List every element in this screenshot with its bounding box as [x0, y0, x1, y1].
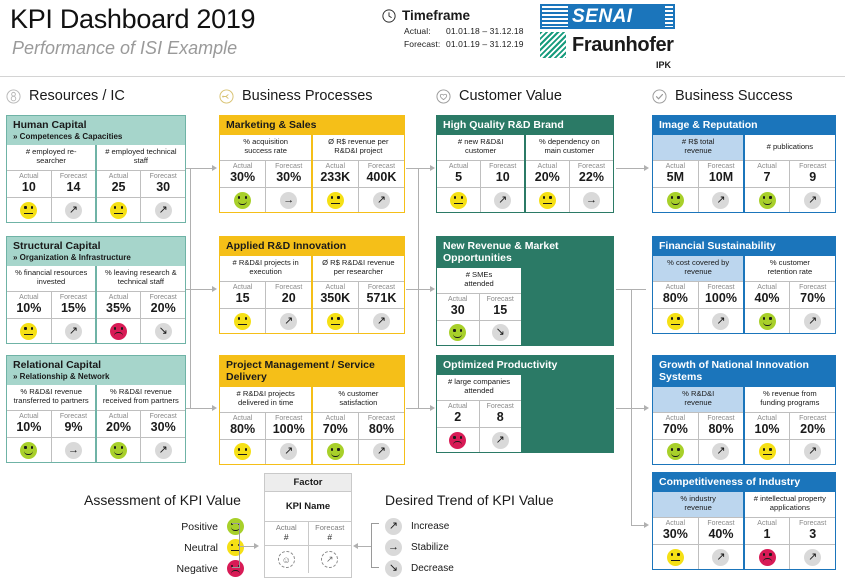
kpi-forecast-cell: Forecast 14: [52, 171, 96, 197]
kpi-forecast-cell: Forecast 30%: [266, 161, 311, 187]
kpi-grid: # large companiesattended Actual 2 Forec…: [437, 375, 613, 452]
kpi-mood-cell: [7, 198, 51, 222]
connector-success-trunk: [631, 289, 632, 525]
trend-increase-icon: ↗: [385, 518, 402, 535]
kpi-values-row: Actual 80% Forecast 100%: [220, 413, 311, 439]
kpi-values-row: Actual 5M Forecast 10M: [653, 161, 743, 187]
kpi-status-row: ↗: [745, 187, 835, 212]
kpi-values-row: Actual 20% Forecast 30%: [97, 411, 185, 437]
column-heading-label: Resources / IC: [29, 88, 125, 104]
kpi-name: % industryrevenue: [653, 492, 743, 518]
trend-increase-icon: ↗: [280, 313, 297, 330]
kpi-forecast-cell: Forecast 10M: [699, 161, 744, 187]
kpi-forecast-value: 9: [790, 170, 835, 187]
smiley-neutral-icon: [20, 202, 37, 219]
legend-trend-item: ↘ Decrease: [385, 560, 454, 577]
card-title: Competitiveness of Industry: [653, 473, 835, 492]
kpi-actual-caption: Actual: [653, 161, 698, 170]
kpi-forecast-value: 30%: [141, 420, 185, 437]
kpi-actual-caption: Actual: [220, 161, 265, 170]
kpi-values-row: Actual 30% Forecast 30%: [220, 161, 311, 187]
kpi-actual-caption: Actual: [745, 413, 790, 422]
kpi-trend-cell: ↗: [790, 440, 835, 464]
kpi-mood-cell: [437, 428, 479, 452]
kpi-actual-value: 30: [437, 303, 479, 320]
card-title: High Quality R&D Brand: [437, 116, 613, 135]
kpi-actual-cell: Actual 10%: [7, 411, 51, 437]
kpi-mood-cell: [745, 440, 790, 464]
kpi-trend-cell: →: [570, 188, 613, 212]
legend-factor-icons: ☺ ↗: [265, 546, 351, 573]
connector-arrowhead-processes-1: [212, 286, 217, 292]
kpi-name: % R&D&I revenuereceived from partners: [97, 385, 185, 411]
kpi-actual-cell: Actual 25: [97, 171, 141, 197]
kpi-values-row: Actual 10% Forecast 20%: [745, 413, 835, 439]
kpi-card-optimized-productivity[interactable]: Optimized Productivity # large companies…: [436, 355, 614, 453]
kpi-actual-cell: Actual 10: [7, 171, 51, 197]
kpi-grid: # SMEsattended Actual 30 Forecast 15 ↘: [437, 268, 613, 345]
legend-trend-label: Increase: [411, 521, 449, 532]
column-heading-customer: Customer Value: [436, 88, 562, 104]
kpi-mood-cell: [97, 319, 141, 343]
legend-trend-title: Desired Trend of KPI Value: [385, 492, 554, 508]
kpi-forecast-caption: Forecast: [266, 161, 311, 170]
kpi-actual-value: 30%: [220, 170, 265, 187]
kpi-actual-caption: Actual: [7, 292, 51, 301]
column-heading-success: Business Success: [652, 88, 793, 104]
kpi-forecast-cell: Forecast 9%: [52, 411, 96, 437]
kpi-status-row: ↗: [653, 187, 743, 212]
kpi-forecast-caption: Forecast: [52, 292, 96, 301]
kpi-forecast-cell: Forecast 15: [480, 294, 522, 320]
kpi-forecast-value: 400K: [359, 170, 404, 187]
kpi-values-row: Actual 30 Forecast 15: [437, 294, 521, 320]
kpi-mood-cell: [745, 545, 790, 569]
trend-increase-icon: ↗: [373, 192, 390, 209]
heart-circle-icon: [436, 89, 451, 104]
legend-assessment-label: Neutral: [160, 542, 218, 554]
kpi-mood-cell: [313, 188, 358, 212]
column-heading-label: Business Processes: [242, 88, 373, 104]
kpi-card-growth-national-innovation[interactable]: Growth of National Innovation Systems % …: [652, 355, 836, 465]
trend-stabilize-icon: →: [65, 442, 82, 459]
fraunhofer-mark-icon: [540, 32, 566, 58]
kpi-status-row: →: [220, 187, 311, 212]
kpi-forecast-value: 30: [141, 180, 185, 197]
kpi-actual-value: 10: [7, 180, 51, 197]
kpi-mood-cell: [220, 309, 265, 333]
senai-wordmark: SENAI: [572, 6, 633, 28]
kpi-actual-value: 7: [745, 170, 790, 187]
kpi-forecast-cell: Forecast 40%: [699, 518, 744, 544]
kpi-column: # employed technicalstaff Actual 25 Fore…: [97, 145, 185, 222]
kpi-card-competitiveness-industry[interactable]: Competitiveness of Industry % industryre…: [652, 472, 836, 570]
connector-arrowhead-success-0: [644, 165, 649, 171]
legend-factor-header: Factor: [265, 474, 351, 492]
kpi-forecast-caption: Forecast: [790, 161, 835, 170]
kpi-mood-cell: [220, 440, 265, 464]
kpi-column: # new R&D&Icustomer Actual 5 Forecast 10…: [437, 135, 524, 212]
kpi-actual-cell: Actual 20%: [526, 161, 569, 187]
kpi-actual-cell: Actual 15: [220, 282, 265, 308]
kpi-actual-value: 5M: [653, 170, 698, 187]
kpi-card-new-revenue-market-opportunities[interactable]: New Revenue & Market Opportunities # SME…: [436, 236, 614, 346]
kpi-mood-cell: [745, 309, 790, 333]
kpi-trend-cell: ↗: [52, 319, 96, 343]
kpi-actual-caption: Actual: [526, 161, 569, 170]
kpi-actual-caption: Actual: [220, 413, 265, 422]
kpi-trend-cell: ↗: [790, 309, 835, 333]
kpi-name: # intellectual propertyapplications: [745, 492, 835, 518]
kpi-group: % industryrevenue Actual 30% Forecast 40…: [653, 492, 835, 569]
kpi-status-row: ↗: [745, 439, 835, 464]
kpi-grid: % financial resourcesinvested Actual 10%…: [7, 266, 185, 343]
card-filler: [521, 268, 613, 345]
kpi-forecast-cell: Forecast 22%: [570, 161, 613, 187]
kpi-column: # R$ totalrevenue Actual 5M Forecast 10M…: [653, 135, 743, 212]
kpi-values-row: Actual 10% Forecast 9%: [7, 411, 95, 437]
kpi-forecast-value: 100%: [266, 422, 311, 439]
smiley-neutral-icon: [667, 549, 684, 566]
kpi-values-row: Actual 80% Forecast 100%: [653, 282, 743, 308]
kpi-trend-cell: ↗: [266, 440, 311, 464]
smiley-positive-icon: [667, 192, 684, 209]
smiley-positive-icon: [667, 443, 684, 460]
kpi-trend-cell: ↗: [699, 188, 744, 212]
kpi-actual-caption: Actual: [7, 171, 51, 180]
smiley-positive-icon: [110, 442, 127, 459]
kpi-actual-value: 70%: [653, 422, 698, 439]
kpi-grid: % R&D&Irevenue Actual 70% Forecast 80% ↗: [653, 387, 835, 464]
header-divider: [0, 76, 845, 77]
kpi-mood-cell: [437, 321, 479, 345]
kpi-mood-cell: [437, 188, 480, 212]
kpi-actual-value: 233K: [313, 170, 358, 187]
legend-assessment-title: Assessment of KPI Value: [84, 492, 241, 508]
kpi-column: % R&D&I revenuereceived from partners Ac…: [97, 385, 185, 462]
kpi-column: % customersatisfaction Actual 70% Foreca…: [313, 387, 404, 464]
legend-factor-mood-slot: ☺: [265, 546, 308, 573]
kpi-forecast-cell: Forecast 8: [480, 401, 522, 427]
kpi-actual-value: 35%: [97, 301, 141, 318]
kpi-values-row: Actual 70% Forecast 80%: [653, 413, 743, 439]
trend-stabilize-icon: →: [583, 192, 600, 209]
kpi-forecast-cell: Forecast 9: [790, 161, 835, 187]
kpi-name: % R&D&Irevenue: [653, 387, 743, 413]
kpi-trend-cell: ↗: [699, 440, 744, 464]
trend-increase-icon: ↗: [65, 202, 82, 219]
smiley-positive-icon: [449, 324, 466, 341]
kpi-forecast-cell: Forecast 80%: [359, 413, 404, 439]
kpi-grid: # R&D&I projects inexecution Actual 15 F…: [220, 256, 404, 333]
trend-increase-icon: ↗: [712, 443, 729, 460]
kpi-values-row: Actual 25 Forecast 30: [97, 171, 185, 197]
kpi-status-row: ↗: [220, 439, 311, 464]
kpi-grid: % industryrevenue Actual 30% Forecast 40…: [653, 492, 835, 569]
kpi-name: # employed re-searcher: [7, 145, 95, 171]
connector-arrowhead-processes-2: [212, 405, 217, 411]
kpi-trend-cell: ↗: [790, 188, 835, 212]
kpi-actual-cell: Actual 5: [437, 161, 480, 187]
kpi-card-relational-capital[interactable]: Relational Capital» Relationship & Netwo…: [6, 355, 186, 463]
kpi-status-row: ↗: [653, 439, 743, 464]
kpi-forecast-value: 15%: [52, 301, 96, 318]
kpi-status-row: ↗: [220, 308, 311, 333]
kpi-values-row: Actual 30% Forecast 40%: [653, 518, 743, 544]
kpi-forecast-value: 20: [266, 291, 311, 308]
kpi-status-row: →: [7, 437, 95, 462]
connector-arrowhead-customer-2: [430, 405, 435, 411]
trend-increase-icon: ↗: [804, 443, 821, 460]
kpi-status-row: ↘: [97, 318, 185, 343]
legend-assessment-brace: [232, 523, 240, 568]
kpi-values-row: Actual 70% Forecast 80%: [313, 413, 404, 439]
kpi-forecast-value: 10M: [699, 170, 744, 187]
kpi-card-financial-sustainability[interactable]: Financial Sustainability % cost covered …: [652, 236, 836, 334]
fraunhofer-institute-code: IPK: [656, 60, 671, 70]
kpi-card-human-capital[interactable]: Human Capital» Competences & Capacities …: [6, 115, 186, 223]
smiley-neutral-icon: [234, 443, 251, 460]
card-subtitle: » Relationship & Network: [13, 373, 179, 382]
kpi-actual-cell: Actual 70%: [313, 413, 358, 439]
kpi-actual-value: 20%: [97, 420, 141, 437]
kpi-forecast-cell: Forecast 571K: [359, 282, 404, 308]
kpi-trend-cell: ↗: [141, 198, 185, 222]
kpi-column: % customerretention rate Actual 40% Fore…: [745, 256, 835, 333]
kpi-name: # R&D&I projects inexecution: [220, 256, 311, 282]
kpi-mood-cell: [653, 188, 698, 212]
connector-processes-in-1: [190, 289, 214, 290]
kpi-actual-value: 40%: [745, 291, 790, 308]
kpi-forecast-value: 80%: [699, 422, 744, 439]
kpi-actual-cell: Actual 40%: [745, 282, 790, 308]
kpi-trend-cell: →: [52, 438, 96, 462]
kpi-name: % R&D&I revenuetransferred to partners: [7, 385, 95, 411]
kpi-actual-cell: Actual 5M: [653, 161, 698, 187]
legend-assessment-arrowhead: [254, 543, 259, 549]
kpi-name: # large companiesattended: [437, 375, 521, 401]
trend-placeholder-icon: ↗: [321, 551, 338, 568]
card-title: Marketing & Sales: [220, 116, 404, 135]
kpi-name: % financial resourcesinvested: [7, 266, 95, 292]
trend-stabilize-icon: →: [280, 192, 297, 209]
kpi-actual-caption: Actual: [745, 161, 790, 170]
kpi-actual-caption: Actual: [653, 518, 698, 527]
kpi-values-row: Actual 5 Forecast 10: [437, 161, 524, 187]
kpi-forecast-caption: Forecast: [699, 282, 744, 291]
legend-factor-actual-value: #: [265, 533, 308, 543]
kpi-card-project-management[interactable]: Project Management / Service Delivery # …: [219, 355, 405, 465]
kpi-card-applied-rd-innovation[interactable]: Applied R&D Innovation # R&D&I projects …: [219, 236, 405, 334]
timeframe-actual-key: Actual:: [404, 26, 446, 36]
kpi-column: % R&D&Irevenue Actual 70% Forecast 80% ↗: [653, 387, 743, 464]
kpi-trend-cell: ↗: [480, 428, 522, 452]
kpi-mood-cell: [97, 198, 141, 222]
card-title: Optimized Productivity: [437, 356, 613, 375]
kpi-forecast-cell: Forecast 20: [266, 282, 311, 308]
kpi-name: # publications: [745, 135, 835, 161]
kpi-mood-cell: [745, 188, 790, 212]
trend-increase-icon: ↗: [155, 442, 172, 459]
legend-factor-card: Factor KPI Name Actual # Forecast # ☺ ↗: [264, 473, 352, 578]
kpi-values-row: Actual 35% Forecast 20%: [97, 292, 185, 318]
smiley-positive-icon: [759, 192, 776, 209]
timeframe-forecast-key: Forecast:: [404, 39, 446, 49]
trend-increase-icon: ↗: [804, 549, 821, 566]
card-title: Structural Capital» Organization & Infra…: [7, 237, 185, 266]
card-subtitle: » Competences & Capacities: [13, 133, 179, 142]
trend-decrease-icon: ↘: [385, 560, 402, 577]
trend-increase-icon: ↗: [712, 549, 729, 566]
kpi-forecast-cell: Forecast 20%: [790, 413, 835, 439]
legend-trend-item: ↗ Increase: [385, 518, 449, 535]
connector-processes-in-0: [190, 168, 214, 169]
connector-arrowhead-customer-1: [430, 286, 435, 292]
kpi-forecast-caption: Forecast: [141, 292, 185, 301]
kpi-forecast-value: 80%: [359, 422, 404, 439]
kpi-forecast-cell: Forecast 20%: [141, 292, 185, 318]
kpi-name: % dependency onmain customer: [526, 135, 613, 161]
kpi-name: % cost covered byrevenue: [653, 256, 743, 282]
trend-increase-icon: ↗: [804, 313, 821, 330]
legend-trend-arrowhead: [353, 543, 358, 549]
kpi-name: # employed technicalstaff: [97, 145, 185, 171]
connector-processes-trunk: [418, 168, 419, 408]
kpi-forecast-value: 3: [790, 527, 835, 544]
kpi-actual-cell: Actual 70%: [653, 413, 698, 439]
legend-trend-label: Stabilize: [411, 542, 449, 553]
kpi-forecast-cell: Forecast 10: [481, 161, 524, 187]
card-title: Financial Sustainability: [653, 237, 835, 256]
smiley-neutral-icon: [539, 192, 556, 209]
connector-arrowhead-success-3: [644, 522, 649, 528]
kpi-column: # R&D&I projects inexecution Actual 15 F…: [220, 256, 311, 333]
kpi-column: # employed re-searcher Actual 10 Forecas…: [7, 145, 95, 222]
legend-factor-actual: Actual #: [265, 522, 308, 545]
senai-edge-icon: [665, 6, 673, 27]
kpi-forecast-value: 70%: [790, 291, 835, 308]
kpi-mood-cell: [97, 438, 141, 462]
smiley-neutral-icon: [450, 192, 467, 209]
trend-increase-icon: ↗: [492, 432, 509, 449]
smiley-neutral-icon: [20, 323, 37, 340]
kpi-actual-cell: Actual 35%: [97, 292, 141, 318]
kpi-actual-caption: Actual: [220, 282, 265, 291]
kpi-actual-value: 10%: [7, 301, 51, 318]
kpi-mood-cell: [653, 440, 698, 464]
kpi-card-marketing-sales[interactable]: Marketing & Sales % acquisitionsuccess r…: [219, 115, 405, 213]
kpi-forecast-value: 571K: [359, 291, 404, 308]
kpi-forecast-cell: Forecast 80%: [699, 413, 744, 439]
kpi-status-row: ↗: [653, 308, 743, 333]
kpi-values-row: Actual 20% Forecast 22%: [526, 161, 613, 187]
legend-factor-forecast-value: #: [309, 533, 352, 543]
kpi-card-high-quality-rd-brand[interactable]: High Quality R&D Brand # new R&D&Icustom…: [436, 115, 614, 213]
kpi-status-row: ↗: [97, 197, 185, 222]
trend-increase-icon: ↗: [373, 313, 390, 330]
kpi-actual-caption: Actual: [313, 161, 358, 170]
kpi-group: % R&D&Irevenue Actual 70% Forecast 80% ↗: [653, 387, 835, 464]
kpi-forecast-value: 20%: [141, 301, 185, 318]
smiley-negative-icon: [449, 432, 466, 449]
kpi-name: # new R&D&Icustomer: [437, 135, 524, 161]
page-title: KPI Dashboard 2019: [10, 4, 255, 35]
column-heading-resources: Resources / IC: [6, 88, 125, 104]
kpi-group: # R&D&I projectsdelivered in time Actual…: [220, 387, 404, 464]
kpi-forecast-caption: Forecast: [480, 401, 522, 410]
smiley-positive-icon: [759, 313, 776, 330]
kpi-actual-value: 80%: [653, 291, 698, 308]
kpi-values-row: Actual 40% Forecast 70%: [745, 282, 835, 308]
legend-assessment-label: Negative: [160, 563, 218, 575]
legend-assessment-label: Positive: [160, 521, 218, 533]
timeframe-forecast-value: 01.01.19 – 31.12.19: [446, 39, 524, 49]
trend-decrease-icon: ↘: [492, 324, 509, 341]
kpi-actual-cell: Actual 20%: [97, 411, 141, 437]
kpi-forecast-cell: Forecast 100%: [266, 413, 311, 439]
kpi-column: % acquisitionsuccess rate Actual 30% For…: [220, 135, 311, 212]
page-subtitle: Performance of ISI Example: [12, 38, 237, 59]
kpi-group: # new R&D&Icustomer Actual 5 Forecast 10…: [437, 135, 613, 212]
kpi-grid: % cost covered byrevenue Actual 80% Fore…: [653, 256, 835, 333]
card-subtitle: » Organization & Infrastructure: [13, 254, 179, 263]
kpi-group: % acquisitionsuccess rate Actual 30% For…: [220, 135, 404, 212]
kpi-forecast-caption: Forecast: [266, 282, 311, 291]
kpi-column: # SMEsattended Actual 30 Forecast 15 ↘: [437, 268, 521, 345]
kpi-column: % dependency onmain customer Actual 20% …: [526, 135, 613, 212]
legend-factor-trend-slot: ↗: [308, 546, 352, 573]
kpi-forecast-caption: Forecast: [570, 161, 613, 170]
smiley-positive-icon: [327, 443, 344, 460]
kpi-forecast-caption: Forecast: [790, 518, 835, 527]
kpi-actual-cell: Actual 1: [745, 518, 790, 544]
kpi-group: % cost covered byrevenue Actual 80% Fore…: [653, 256, 835, 333]
kpi-actual-caption: Actual: [437, 294, 479, 303]
kpi-actual-value: 1: [745, 527, 790, 544]
kpi-actual-cell: Actual 10%: [7, 292, 51, 318]
kpi-name: # R$ totalrevenue: [653, 135, 743, 161]
kpi-actual-cell: Actual 10%: [745, 413, 790, 439]
kpi-status-row: ↗: [97, 437, 185, 462]
connector-processes-stub-0: [406, 168, 418, 169]
kpi-card-structural-capital[interactable]: Structural Capital» Organization & Infra…: [6, 236, 186, 344]
card-title: Relational Capital» Relationship & Netwo…: [7, 356, 185, 385]
kpi-forecast-caption: Forecast: [359, 161, 404, 170]
clock-icon: [382, 9, 396, 23]
kpi-forecast-cell: Forecast 15%: [52, 292, 96, 318]
kpi-column: % cost covered byrevenue Actual 80% Fore…: [653, 256, 743, 333]
legend-trend-item: → Stabilize: [385, 539, 449, 556]
kpi-forecast-caption: Forecast: [790, 413, 835, 422]
card-title: Applied R&D Innovation: [220, 237, 404, 256]
kpi-group: # SMEsattended Actual 30 Forecast 15 ↘: [437, 268, 521, 345]
kpi-forecast-value: 14: [52, 180, 96, 197]
kpi-forecast-value: 100%: [699, 291, 744, 308]
kpi-trend-cell: ↘: [480, 321, 522, 345]
kpi-group: % financial resourcesinvested Actual 10%…: [7, 266, 185, 343]
legend-factor-values: Actual # Forecast #: [265, 522, 351, 546]
column-heading-label: Customer Value: [459, 88, 562, 104]
kpi-values-row: Actual 2 Forecast 8: [437, 401, 521, 427]
connector-arrowhead-processes-0: [212, 165, 217, 171]
kpi-trend-cell: ↗: [790, 545, 835, 569]
kpi-name: % customerretention rate: [745, 256, 835, 282]
trend-increase-icon: ↗: [280, 443, 297, 460]
kpi-card-image-reputation[interactable]: Image & Reputation # R$ totalrevenue Act…: [652, 115, 836, 213]
kpi-column: # large companiesattended Actual 2 Forec…: [437, 375, 521, 452]
kpi-actual-caption: Actual: [437, 401, 479, 410]
kpi-forecast-cell: Forecast 100%: [699, 282, 744, 308]
